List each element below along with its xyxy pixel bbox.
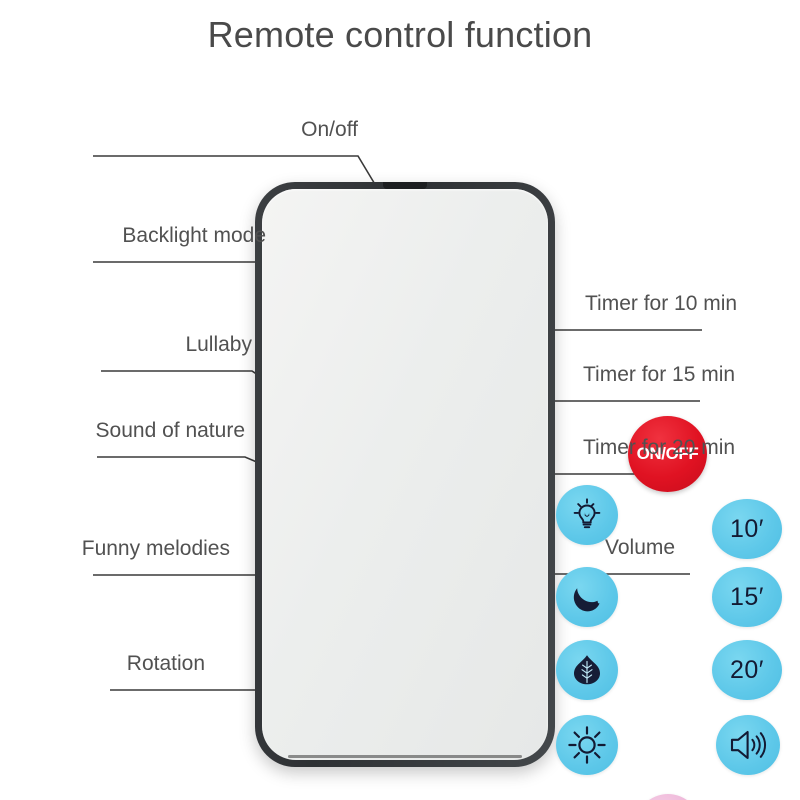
callout-timer20-label: Timer for 20 min: [583, 436, 735, 459]
callout-timer15-label: Timer for 15 min: [583, 363, 735, 386]
callout-rotation-label: Rotation: [127, 652, 205, 675]
callout-lullaby: Lullaby: [101, 333, 252, 357]
rotation-button[interactable]: [636, 794, 700, 800]
callout-nature: Sound of nature: [55, 419, 245, 443]
lullaby-button[interactable]: [556, 567, 618, 627]
crescent-moon-icon: [569, 579, 605, 615]
callout-onoff-label: On/off: [301, 118, 358, 141]
timer-15-label: 15′: [730, 583, 764, 612]
callout-nature-label: Sound of nature: [96, 419, 245, 442]
timer-10-button[interactable]: 10′: [712, 499, 782, 559]
callout-backlight: Backlight mode: [73, 224, 266, 248]
timer-20-label: 20′: [730, 656, 764, 685]
speaker-volume-icon: [728, 728, 768, 762]
remote-control-face: [262, 189, 548, 760]
funny-melodies-button[interactable]: [556, 715, 618, 775]
sound-of-nature-button[interactable]: [556, 640, 618, 700]
callout-melodies: Funny melodies: [55, 537, 230, 561]
timer-20-button[interactable]: 20′: [712, 640, 782, 700]
leaf-icon: [569, 652, 605, 688]
callout-volume: Volume: [605, 536, 675, 560]
timer-10-label: 10′: [730, 515, 764, 544]
callout-lullaby-label: Lullaby: [185, 333, 252, 356]
ir-emitter-icon: [383, 182, 427, 189]
timer-15-button[interactable]: 15′: [712, 567, 782, 627]
callout-timer10: Timer for 10 min: [585, 292, 737, 316]
lightbulb-icon: [568, 496, 606, 534]
callout-timer15: Timer for 15 min: [583, 363, 735, 387]
remote-control-body: ON/OFF: [255, 182, 555, 767]
callout-timer20: Timer for 20 min: [583, 436, 735, 460]
volume-button[interactable]: [716, 715, 780, 775]
remote-control-diagram: Remote control function: [0, 0, 800, 800]
page-title: Remote control function: [0, 14, 800, 56]
callout-timer10-label: Timer for 10 min: [585, 292, 737, 315]
callout-rotation: Rotation: [110, 652, 205, 676]
callout-onoff: On/off: [93, 118, 358, 142]
remote-bottom-lip: [288, 755, 522, 758]
callout-melodies-label: Funny melodies: [82, 537, 230, 560]
callout-backlight-label: Backlight mode: [122, 224, 266, 247]
callout-volume-label: Volume: [605, 536, 675, 559]
sun-icon: [567, 725, 607, 765]
